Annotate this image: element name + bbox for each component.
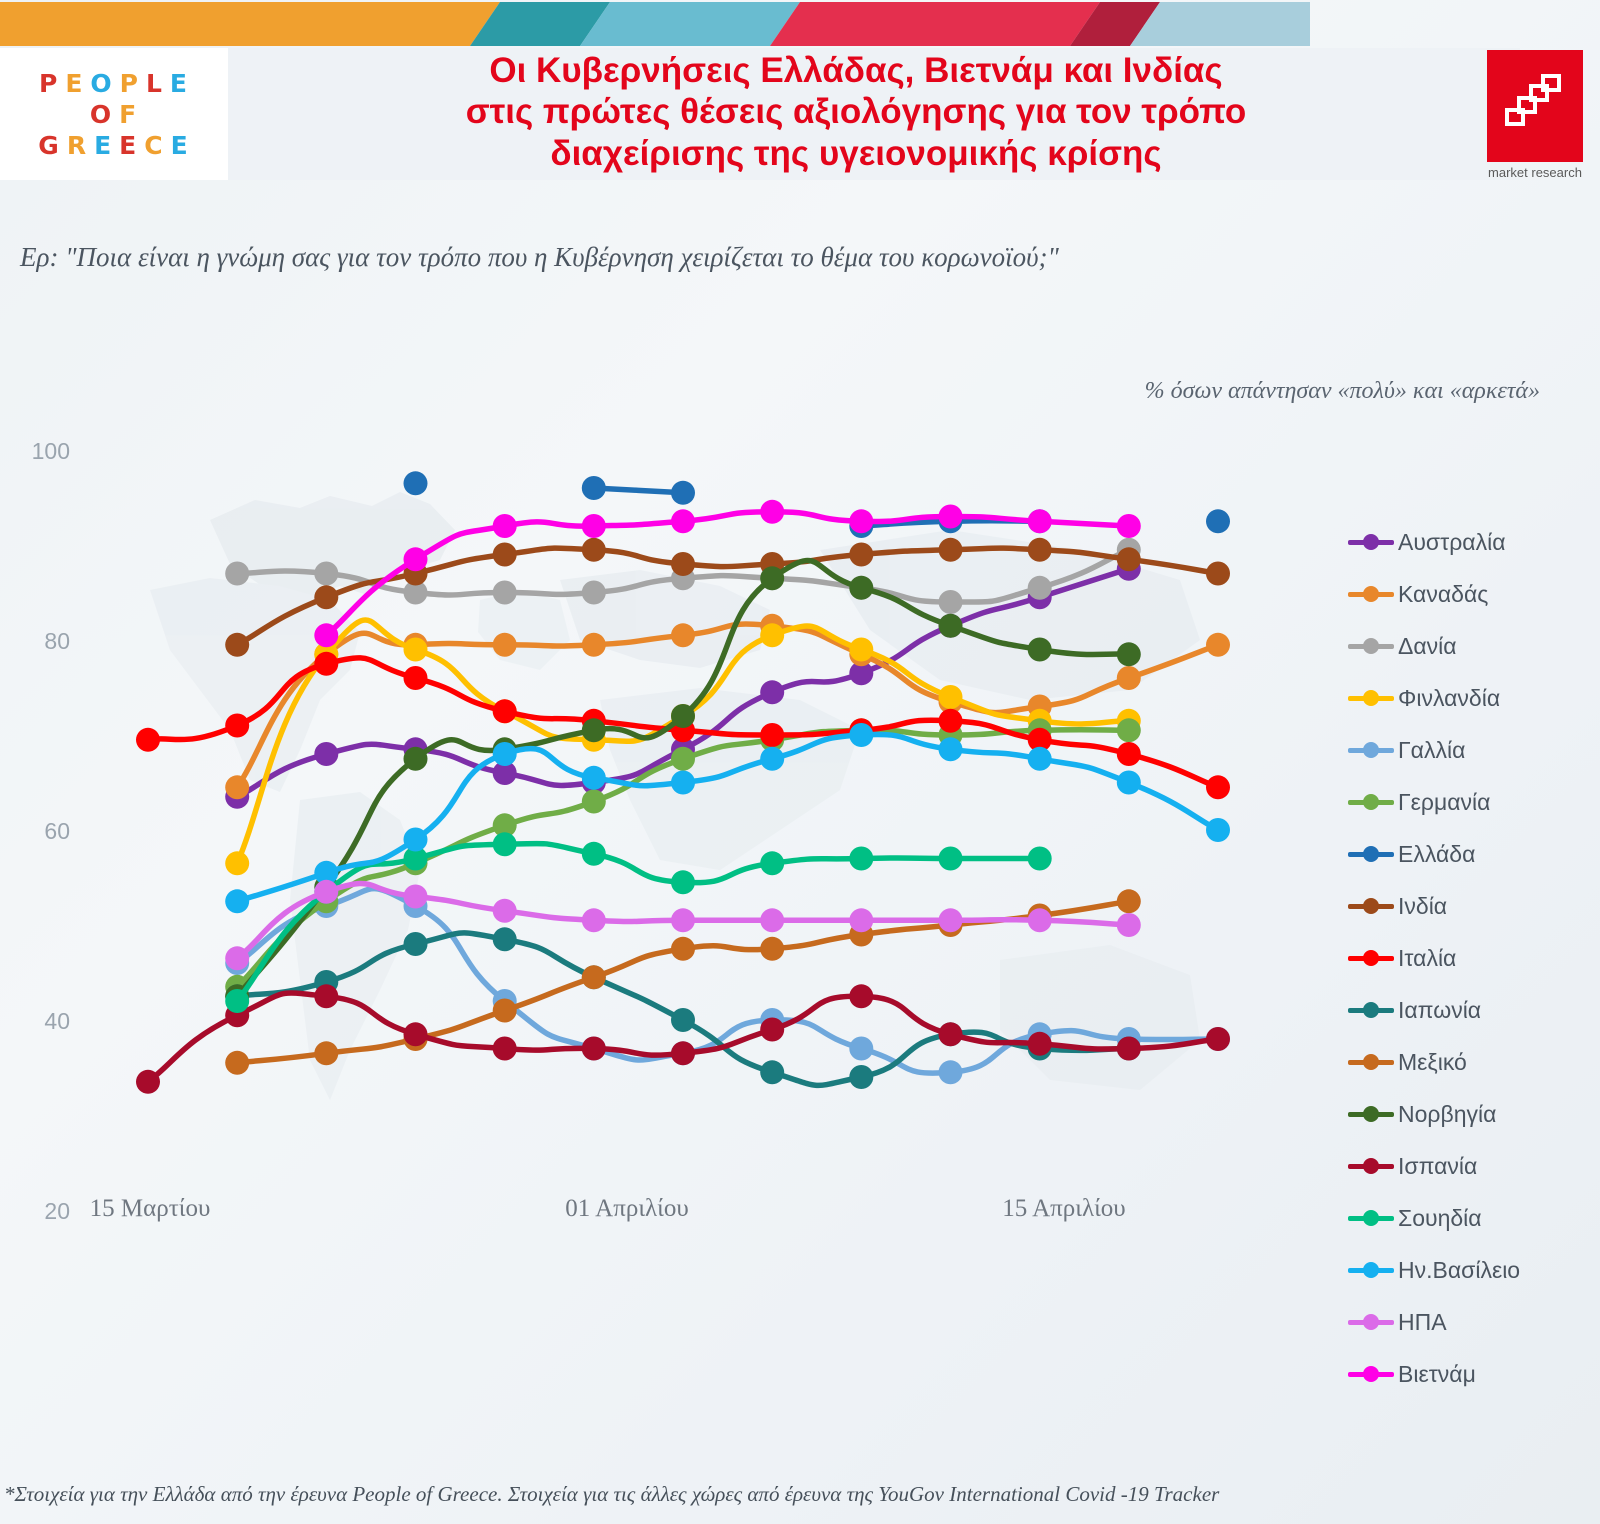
legend-item-Νορβηγία[interactable]: Νορβηγία (1348, 1088, 1598, 1140)
x-tick-label: 15 Μαρτίου (90, 1195, 211, 1222)
logo-letter: E (170, 71, 189, 96)
data-point (404, 828, 428, 852)
data-point (493, 1037, 517, 1061)
market-research-logo: market research (1487, 50, 1583, 190)
legend-item-Σουηδία[interactable]: Σουηδία (1348, 1192, 1598, 1244)
top-banner (0, 0, 1310, 48)
data-point (493, 633, 517, 657)
data-point (760, 680, 784, 704)
data-point (225, 775, 249, 799)
logo-letter: L (146, 71, 164, 96)
legend-swatch-icon (1348, 1261, 1394, 1279)
data-point (849, 638, 873, 662)
legend-label: Ελλάδα (1398, 841, 1475, 868)
data-point (849, 1037, 873, 1061)
data-point (404, 638, 428, 662)
data-point (760, 747, 784, 771)
legend-item-Ελλάδα[interactable]: Ελλάδα (1348, 828, 1598, 880)
legend-item-Βιετνάμ[interactable]: Βιετνάμ (1348, 1348, 1598, 1400)
legend-swatch-icon (1348, 949, 1394, 967)
legend-item-Ιαπωνία[interactable]: Ιαπωνία (1348, 984, 1598, 1036)
data-point (1117, 913, 1141, 937)
legend-swatch-icon (1348, 1105, 1394, 1123)
legend-swatch-icon (1348, 1001, 1394, 1019)
logo-letter: R (67, 133, 88, 158)
data-point (314, 585, 338, 609)
data-point (314, 1041, 338, 1065)
legend-label: Φινλανδία (1398, 685, 1500, 712)
data-point (582, 1037, 606, 1061)
logo-letter: G (38, 133, 61, 158)
data-point (939, 908, 963, 932)
x-tick-label: 01 Απριλίου (565, 1195, 688, 1222)
legend-swatch-icon (1348, 1209, 1394, 1227)
data-point (1117, 718, 1141, 742)
data-point (582, 790, 606, 814)
legend-swatch-icon (1348, 845, 1394, 863)
legend-label: Ισπανία (1398, 1153, 1477, 1180)
legend-label: Σουηδία (1398, 1205, 1482, 1232)
data-point (849, 984, 873, 1008)
legend-item-ΗΠΑ[interactable]: ΗΠΑ (1348, 1296, 1598, 1348)
legend-item-Καναδάς[interactable]: Καναδάς (1348, 568, 1598, 620)
data-point (225, 889, 249, 913)
data-point (225, 989, 249, 1013)
data-point (671, 509, 695, 533)
legend-swatch-icon (1348, 1313, 1394, 1331)
data-point (939, 847, 963, 871)
data-point (939, 1060, 963, 1084)
data-point (671, 704, 695, 728)
data-point (760, 851, 784, 875)
data-point (849, 908, 873, 932)
data-point (1028, 638, 1052, 662)
data-point (671, 552, 695, 576)
data-point (225, 946, 249, 970)
data-point (849, 509, 873, 533)
data-point (939, 590, 963, 614)
logo-letter: O (90, 71, 113, 96)
legend-item-Γερμανία[interactable]: Γερμανία (1348, 776, 1598, 828)
data-point (225, 633, 249, 657)
legend-swatch-icon (1348, 1053, 1394, 1071)
data-point (671, 623, 695, 647)
legend-swatch-icon (1348, 533, 1394, 551)
legend-item-Φινλανδία[interactable]: Φινλανδία (1348, 672, 1598, 724)
series-line (594, 488, 683, 493)
data-point (849, 1065, 873, 1089)
data-point (671, 747, 695, 771)
data-point (404, 547, 428, 571)
data-point (671, 1008, 695, 1032)
data-point (493, 899, 517, 923)
data-point (314, 623, 338, 647)
legend-swatch-icon (1348, 793, 1394, 811)
legend-item-Δανία[interactable]: Δανία (1348, 620, 1598, 672)
chart-legend: ΑυστραλίαΚαναδάςΔανίαΦινλανδίαΓαλλίαΓερμ… (1348, 516, 1598, 1400)
logo-letter: P (39, 71, 59, 96)
stairs-icon (1505, 72, 1567, 134)
logo-letter: F (119, 102, 138, 127)
data-point (1028, 509, 1052, 533)
data-point (1117, 514, 1141, 538)
data-point (760, 908, 784, 932)
data-point (582, 965, 606, 989)
data-point (760, 623, 784, 647)
data-point (1117, 771, 1141, 795)
data-point (225, 562, 249, 586)
data-point (671, 771, 695, 795)
data-point (1028, 576, 1052, 600)
logo-letter: O (90, 102, 113, 127)
data-point (1206, 633, 1230, 657)
logo-line-2: OF (90, 102, 138, 127)
legend-swatch-icon (1348, 741, 1394, 759)
data-point (760, 1018, 784, 1042)
data-point (1206, 818, 1230, 842)
data-point (136, 1070, 160, 1094)
data-point (849, 576, 873, 600)
legend-swatch-icon (1348, 585, 1394, 603)
data-point (314, 562, 338, 586)
legend-item-Αυστραλία[interactable]: Αυστραλία (1348, 516, 1598, 568)
legend-label: Αυστραλία (1398, 529, 1506, 556)
data-point (1117, 547, 1141, 571)
title-line-2: στις πρώτες θέσεις αξιολόγησης για τον τ… (236, 91, 1476, 132)
data-point (582, 633, 606, 657)
legend-item-Γαλλία[interactable]: Γαλλία (1348, 724, 1598, 776)
logo-letter: E (65, 71, 84, 96)
data-point (939, 709, 963, 733)
legend-swatch-icon (1348, 897, 1394, 915)
source-note: *Στοιχεία για την Ελλάδα από την έρευνα … (4, 1482, 1596, 1507)
data-point (582, 766, 606, 790)
data-point (939, 685, 963, 709)
data-point (493, 832, 517, 856)
banner-shape-lightblue (1130, 2, 1310, 46)
data-point (939, 737, 963, 761)
data-point (404, 885, 428, 909)
data-point (404, 471, 428, 495)
data-point (939, 1022, 963, 1046)
y-tick-label: 40 (44, 1008, 70, 1034)
banner-shape-red (770, 2, 1100, 46)
data-point (225, 1051, 249, 1075)
data-point (493, 543, 517, 567)
logo-letter: E (94, 133, 113, 158)
legend-label: Μεξικό (1398, 1049, 1467, 1076)
data-point (1206, 562, 1230, 586)
data-point (225, 851, 249, 875)
data-point (1028, 847, 1052, 871)
y-tick-label: 20 (44, 1198, 70, 1224)
data-point (404, 747, 428, 771)
data-point (582, 842, 606, 866)
data-point (760, 723, 784, 747)
data-point (849, 847, 873, 871)
data-point (939, 538, 963, 562)
data-point (493, 581, 517, 605)
data-point (582, 908, 606, 932)
data-point (493, 742, 517, 766)
legend-label: Γαλλία (1398, 737, 1465, 764)
legend-swatch-icon (1348, 637, 1394, 655)
data-point (671, 1041, 695, 1065)
data-point (136, 728, 160, 752)
data-point (671, 908, 695, 932)
data-point (404, 1022, 428, 1046)
data-point (1117, 889, 1141, 913)
data-point (1206, 509, 1230, 533)
data-point (314, 880, 338, 904)
data-point (1117, 1037, 1141, 1061)
legend-item-Ιταλία[interactable]: Ιταλία (1348, 932, 1598, 984)
data-point (1117, 666, 1141, 690)
market-research-mark (1487, 50, 1583, 162)
line-chart: 10080604020 15 Μαρτίου01 Απριλίου15 Απρι… (0, 400, 1340, 1240)
data-point (493, 927, 517, 951)
data-point (493, 999, 517, 1023)
data-point (582, 538, 606, 562)
data-point (493, 514, 517, 538)
data-point (404, 932, 428, 956)
data-point (1028, 908, 1052, 932)
legend-label: Βιετνάμ (1398, 1361, 1476, 1388)
people-of-greece-logo: PEOPLE OF GREECE (0, 48, 228, 180)
logo-letter: E (119, 133, 138, 158)
data-point (1028, 1032, 1052, 1056)
data-point (1206, 1027, 1230, 1051)
legend-label: Νορβηγία (1398, 1101, 1496, 1128)
data-point (1028, 538, 1052, 562)
data-point (493, 699, 517, 723)
legend-label: Δανία (1398, 633, 1457, 660)
legend-swatch-icon (1348, 1157, 1394, 1175)
legend-item-Ισπανία[interactable]: Ισπανία (1348, 1140, 1598, 1192)
data-point (1117, 642, 1141, 666)
header: PEOPLE OF GREECE Οι Κυβερνήσεις Ελλάδας,… (0, 48, 1600, 228)
data-point (1028, 747, 1052, 771)
chart-canvas: 10080604020 15 Μαρτίου01 Απριλίου15 Απρι… (0, 400, 1340, 1240)
legend-label: ΗΠΑ (1398, 1309, 1447, 1336)
y-tick-label: 80 (44, 628, 70, 654)
market-research-caption: market research (1487, 162, 1583, 180)
x-axis: 15 Μαρτίου01 Απριλίου15 Απριλίου (90, 1195, 1126, 1222)
survey-question: Ερ: "Ποια είναι η γνώμη σας για τον τρόπ… (20, 242, 1059, 273)
logo-line-3: GREECE (38, 133, 189, 158)
legend-item-Ινδία[interactable]: Ινδία (1348, 880, 1598, 932)
data-point (939, 614, 963, 638)
logo-letter: P (120, 71, 140, 96)
data-point (225, 714, 249, 738)
logo-line-1: PEOPLE (39, 71, 189, 96)
legend-item-Μεξικό[interactable]: Μεξικό (1348, 1036, 1598, 1088)
data-point (582, 476, 606, 500)
data-point (314, 652, 338, 676)
data-point (1206, 775, 1230, 799)
logo-letter: C (144, 133, 164, 158)
data-point (760, 937, 784, 961)
legend-label: Καναδάς (1398, 581, 1488, 608)
banner-shape-skyblue (580, 2, 800, 46)
title-line-1: Οι Κυβερνήσεις Ελλάδας, Βιετνάμ και Ινδί… (236, 50, 1476, 91)
legend-item-Ην.Βασίλειο[interactable]: Ην.Βασίλειο (1348, 1244, 1598, 1296)
legend-label: Ινδία (1398, 893, 1447, 920)
data-point (671, 870, 695, 894)
page-title: Οι Κυβερνήσεις Ελλάδας, Βιετνάμ και Ινδί… (236, 50, 1476, 174)
legend-label: Ην.Βασίλειο (1398, 1257, 1520, 1284)
banner-shape-orange (0, 2, 500, 46)
data-point (582, 718, 606, 742)
y-tick-label: 60 (44, 818, 70, 844)
series-Ελλάδα (404, 471, 1231, 538)
title-line-3: διαχείρισης της υγειονομικής κρίσης (236, 133, 1476, 174)
data-point (404, 666, 428, 690)
data-point (314, 984, 338, 1008)
legend-label: Ιαπωνία (1398, 997, 1481, 1024)
data-point (760, 1060, 784, 1084)
data-point (1117, 742, 1141, 766)
data-point (314, 742, 338, 766)
y-tick-label: 100 (32, 438, 70, 464)
legend-label: Γερμανία (1398, 789, 1490, 816)
data-point (939, 505, 963, 529)
legend-swatch-icon (1348, 1365, 1394, 1383)
y-axis: 10080604020 (32, 438, 70, 1224)
x-tick-label: 15 Απριλίου (1002, 1195, 1125, 1222)
logo-letter: E (171, 133, 190, 158)
data-point (849, 543, 873, 567)
data-point (671, 937, 695, 961)
data-point (849, 723, 873, 747)
legend-label: Ιταλία (1398, 945, 1456, 972)
data-point (582, 514, 606, 538)
data-point (760, 566, 784, 590)
data-point (760, 500, 784, 524)
data-point (671, 481, 695, 505)
data-point (582, 581, 606, 605)
legend-swatch-icon (1348, 689, 1394, 707)
